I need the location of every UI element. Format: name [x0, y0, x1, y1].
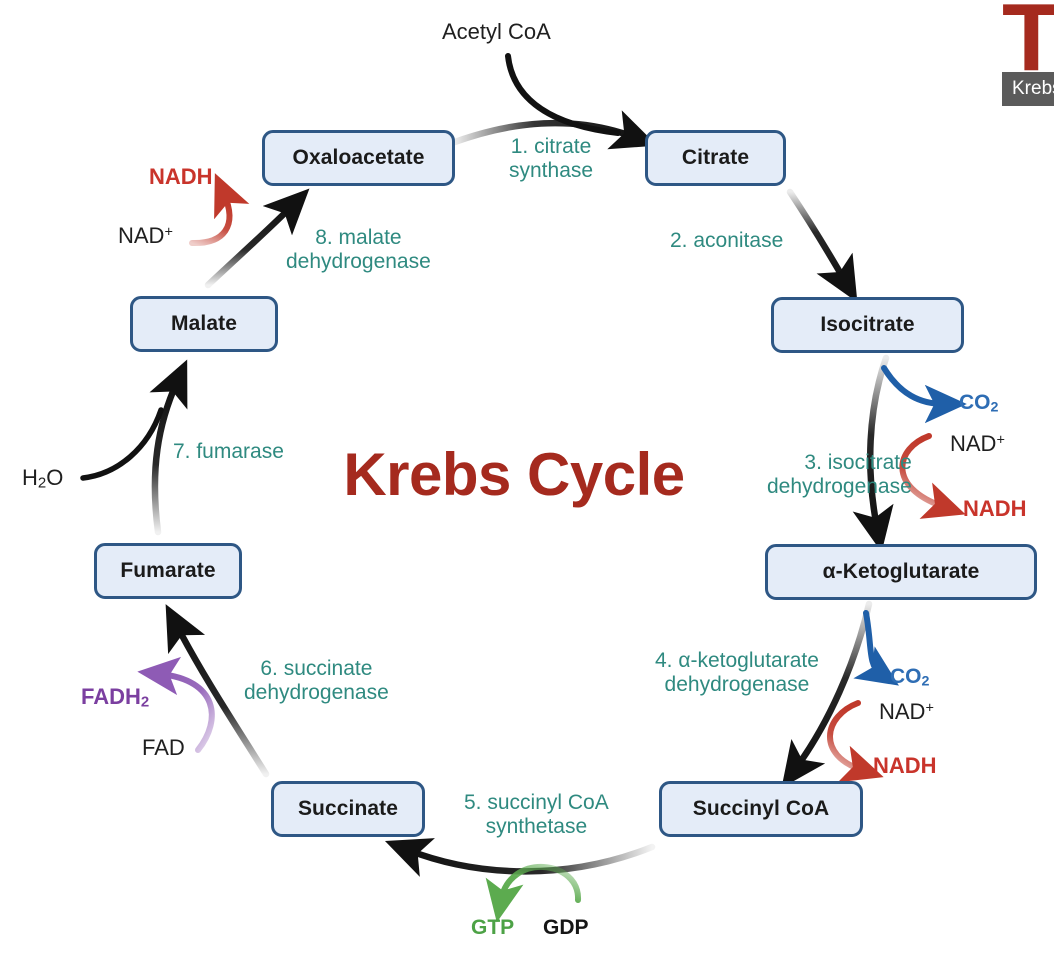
enzyme-line-2: dehydrogenase — [767, 475, 912, 499]
arrow-nad-to-nadh-step8 — [192, 194, 229, 243]
enzyme-line-2: dehydrogenase — [244, 681, 389, 705]
enzyme-label-step-1: 1. citrate synthase — [509, 135, 593, 182]
gtp-text: GTP — [471, 916, 514, 939]
enzyme-line-1: 4. α-ketoglutarate — [655, 649, 819, 673]
metabolite-oxaloacetate[interactable]: Oxaloacetate — [262, 130, 455, 186]
overlay-tooltip-label: Krebs — [1012, 78, 1054, 100]
label-co2-step4: CO2 — [890, 665, 929, 690]
metabolite-alpha-ketoglutarate[interactable]: α-Ketoglutarate — [765, 544, 1037, 600]
label-gtp: GTP — [471, 916, 514, 940]
label-nad-plus-step4: NAD+ — [879, 700, 934, 725]
arrow-nad-to-nadh-step4 — [830, 703, 862, 770]
enzyme-label-step-4: 4. α-ketoglutarate dehydrogenase — [655, 649, 819, 696]
water-subscript: 2 — [38, 475, 46, 492]
krebs-cycle-diagram: Krebs Cycle Oxaloacetate Citrate Isocitr… — [0, 0, 1054, 964]
enzyme-label-step-2: 2. aconitase — [670, 229, 783, 253]
label-water: H2O — [22, 466, 63, 492]
label-co2-step3: CO2 — [959, 391, 998, 416]
nad-text: NAD — [879, 699, 925, 724]
fadh2-subscript: 2 — [141, 694, 149, 711]
arrow-co2-release-step3 — [884, 368, 944, 404]
nadh-text: NADH — [873, 753, 937, 778]
metabolite-succinate[interactable]: Succinate — [271, 781, 425, 837]
enzyme-line-1: 8. malate — [286, 226, 431, 250]
metabolite-label: Malate — [171, 312, 237, 336]
enzyme-label-step-8: 8. malate dehydrogenase — [286, 226, 431, 273]
label-nad-plus-step8: NAD+ — [118, 224, 173, 249]
arrow-malate-to-oxaloacetate — [208, 206, 292, 285]
metabolite-label: Fumarate — [120, 559, 215, 583]
nadh-text: NADH — [149, 164, 213, 189]
overlay-tooltip[interactable]: Krebs — [1002, 72, 1054, 106]
enzyme-line-1: 7. fumarase — [173, 440, 284, 464]
metabolite-malate[interactable]: Malate — [130, 296, 278, 352]
metabolite-label: Succinyl CoA — [693, 797, 830, 821]
nadh-text: NADH — [963, 496, 1027, 521]
metabolite-label: Citrate — [682, 146, 749, 170]
metabolite-citrate[interactable]: Citrate — [645, 130, 786, 186]
co2-text: CO — [890, 665, 922, 688]
enzyme-line-1: 1. citrate — [509, 135, 593, 159]
label-fadh2: FADH2 — [81, 685, 149, 711]
co2-subscript: 2 — [991, 400, 999, 416]
enzyme-label-step-7: 7. fumarase — [173, 440, 284, 464]
label-acetyl-coa: Acetyl CoA — [442, 20, 551, 45]
enzyme-line-1: 5. succinyl CoA — [464, 791, 609, 815]
arrow-acetyl-coa-input — [508, 56, 618, 133]
arrow-co2-release-step4 — [866, 613, 880, 673]
enzyme-line-2: synthetase — [464, 815, 609, 839]
nad-text: NAD — [118, 223, 164, 248]
enzyme-line-1: 3. isocitrate — [767, 451, 912, 475]
enzyme-line-2: dehydrogenase — [655, 673, 819, 697]
metabolite-label: Isocitrate — [820, 313, 914, 337]
enzyme-line-2: dehydrogenase — [286, 250, 431, 274]
cycle-title-text: Krebs Cycle — [343, 440, 684, 509]
label-nadh-step3: NADH — [963, 497, 1027, 522]
label-nadh-step8: NADH — [149, 165, 213, 190]
nad-text: NAD — [950, 431, 996, 456]
fadh2-text: FADH — [81, 684, 141, 709]
label-fad: FAD — [142, 736, 185, 761]
nad-superscript: + — [925, 700, 933, 716]
fad-text: FAD — [142, 735, 185, 760]
metabolite-fumarate[interactable]: Fumarate — [94, 543, 242, 599]
label-nadh-step4: NADH — [873, 754, 937, 779]
enzyme-line-1: 2. aconitase — [670, 229, 783, 253]
enzyme-line-2: synthase — [509, 159, 593, 183]
water-o: O — [46, 465, 63, 490]
water-h: H — [22, 465, 38, 490]
enzyme-label-step-6: 6. succinate dehydrogenase — [244, 657, 389, 704]
arrow-citrate-to-isocitrate — [790, 192, 845, 281]
nad-superscript: + — [996, 432, 1004, 448]
metabolite-isocitrate[interactable]: Isocitrate — [771, 297, 964, 353]
co2-text: CO — [959, 391, 991, 414]
metabolite-label: Succinate — [298, 797, 398, 821]
label-nad-plus-step3: NAD+ — [950, 432, 1005, 457]
nad-superscript: + — [164, 224, 172, 240]
label-gdp: GDP — [543, 916, 589, 940]
metabolite-label: Oxaloacetate — [293, 146, 425, 170]
co2-subscript: 2 — [922, 674, 930, 690]
enzyme-label-step-3: 3. isocitrate dehydrogenase — [767, 451, 912, 498]
enzyme-line-1: 6. succinate — [244, 657, 389, 681]
gdp-text: GDP — [543, 916, 589, 939]
metabolite-label: α-Ketoglutarate — [823, 560, 980, 584]
metabolite-succinyl-coa[interactable]: Succinyl CoA — [659, 781, 863, 837]
acetyl-coa-text: Acetyl CoA — [442, 19, 551, 44]
enzyme-label-step-5: 5. succinyl CoA synthetase — [464, 791, 609, 838]
